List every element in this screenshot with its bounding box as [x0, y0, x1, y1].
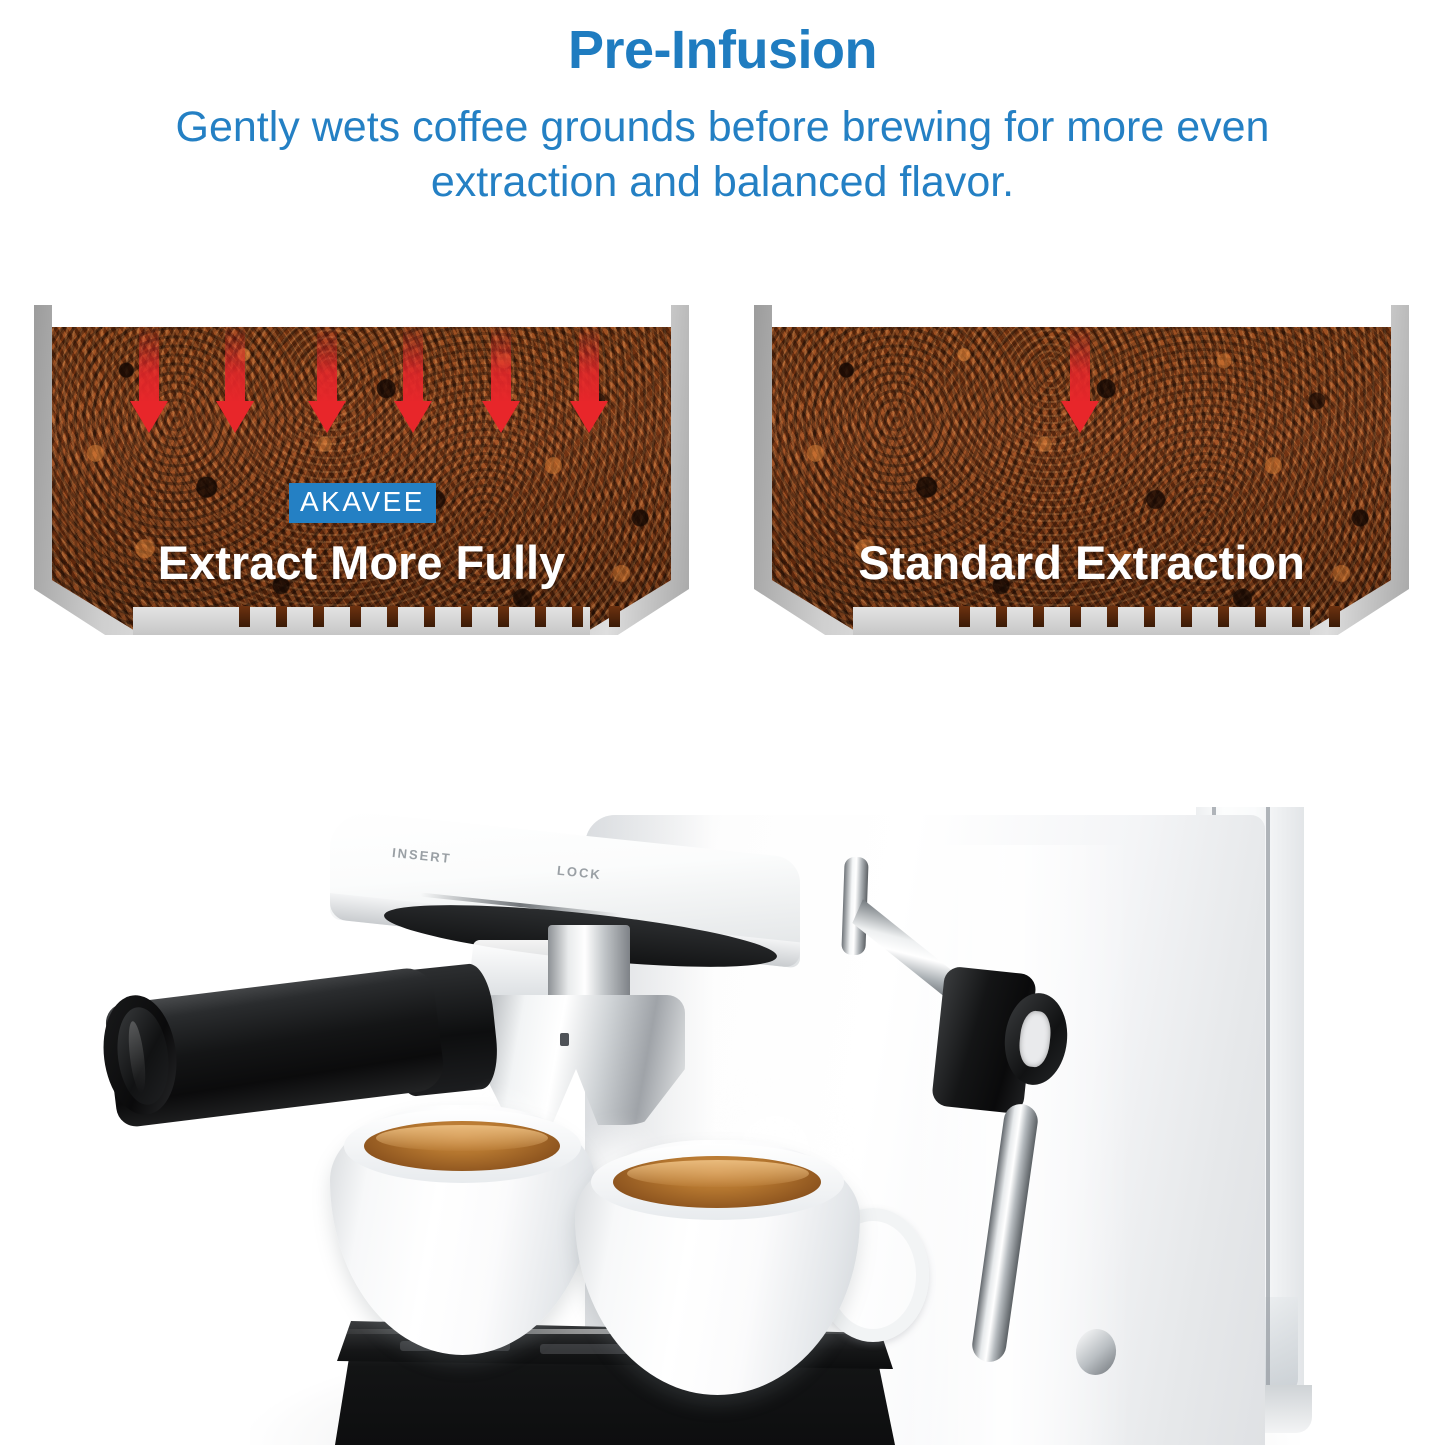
coffee-drop [1057, 674, 1101, 734]
basket-filter-slots [34, 605, 689, 635]
header: Pre-Infusion Gently wets coffee grounds … [0, 0, 1445, 240]
basket-standard: Standard Extraction [754, 305, 1409, 635]
espresso-machine-photo: INSERT LOCK [0, 785, 1445, 1445]
page-subtitle: Gently wets coffee grounds before brewin… [140, 100, 1305, 210]
basket-pre-infusion: AKAVEE Extract More Fully [34, 305, 689, 635]
basket-label-right: Standard Extraction [754, 535, 1409, 590]
extraction-comparison-diagram: AKAVEE Extract More Fully Standard Extra… [0, 240, 1445, 785]
espresso-cup [330, 1105, 595, 1355]
coffee-drop [995, 674, 1039, 734]
product-feature-image: Pre-Infusion Gently wets coffee grounds … [0, 0, 1445, 1445]
coffee-drop [209, 674, 253, 734]
coffee-drop [341, 674, 385, 734]
brand-badge: AKAVEE [289, 483, 436, 523]
basket-label-left: Extract More Fully [34, 535, 689, 590]
coffee-drop [275, 674, 319, 734]
espresso-cup [575, 1140, 860, 1395]
coffee-drop [1119, 674, 1163, 734]
spout-screw [560, 1033, 569, 1046]
basket-filter-slots [754, 605, 1409, 635]
water-tank-edge [1266, 807, 1270, 1425]
coffee-drop [407, 674, 451, 734]
coffee-drop [473, 674, 517, 734]
page-title: Pre-Infusion [0, 22, 1445, 79]
